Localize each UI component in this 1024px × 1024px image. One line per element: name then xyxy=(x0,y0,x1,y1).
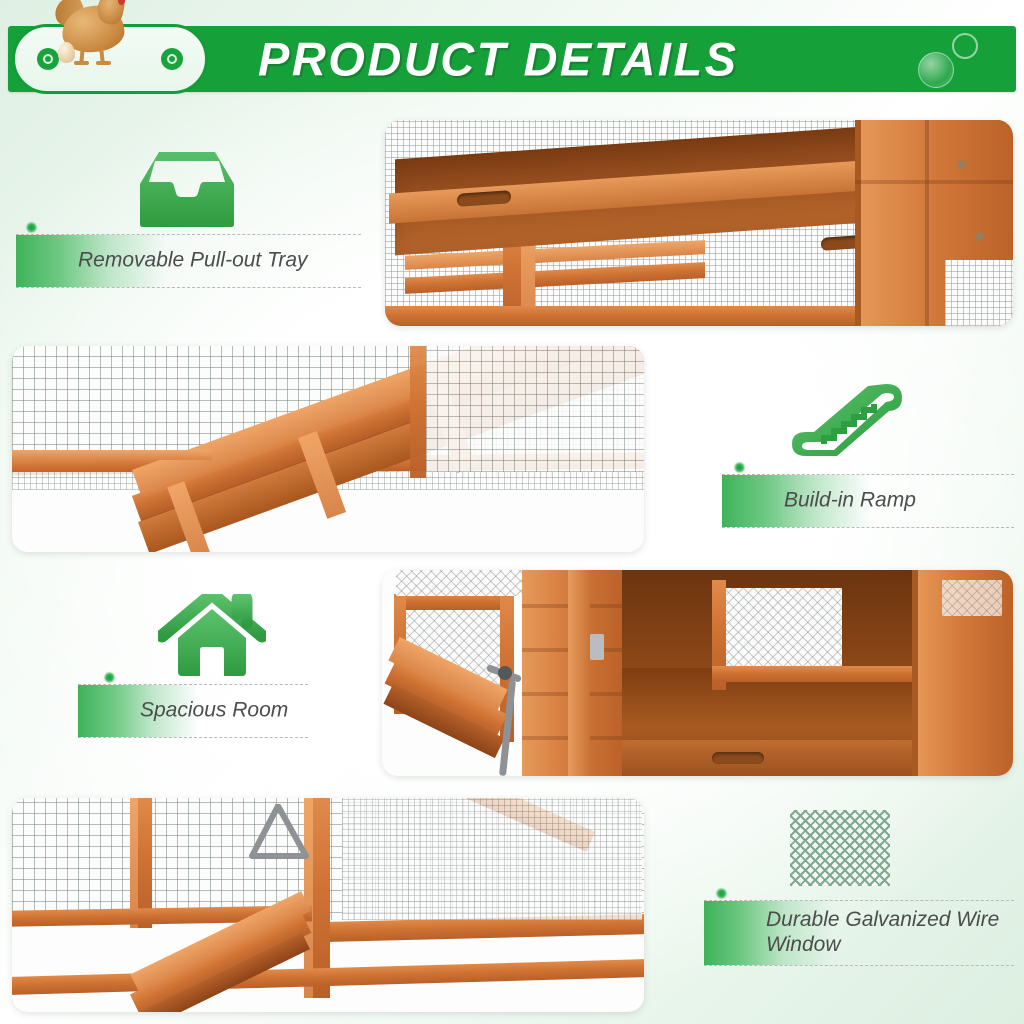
photo-galvanized-wire-window xyxy=(12,798,644,1012)
photo-build-in-ramp xyxy=(12,346,644,552)
feature-pull-out-tray: Removable Pull-out Tray xyxy=(0,140,370,310)
escalator-ramp-icon xyxy=(790,380,910,464)
feature-label: Durable Galvanized Wire Window xyxy=(766,908,1006,958)
feature-spacious-room: Spacious Room xyxy=(60,590,390,760)
accent-dot-icon xyxy=(104,672,115,683)
rivet-icon xyxy=(161,48,183,70)
accent-dot-icon xyxy=(716,888,727,899)
hen-with-egg-icon xyxy=(52,0,148,72)
feature-galvanized-wire-window: Durable Galvanized Wire Window xyxy=(660,800,1024,990)
accent-dot-icon xyxy=(734,462,745,473)
photo-spacious-room xyxy=(382,570,1013,776)
photo-pull-out-tray xyxy=(385,120,1013,326)
wire-mesh-swatch-icon xyxy=(790,810,890,886)
label-bar: Removable Pull-out Tray xyxy=(16,234,361,288)
bubble-large-icon xyxy=(918,52,954,88)
feature-label: Spacious Room xyxy=(140,699,288,724)
accent-dot-icon xyxy=(26,222,37,233)
house-icon xyxy=(158,594,266,680)
feature-label: Build-in Ramp xyxy=(784,489,916,514)
feature-label: Removable Pull-out Tray xyxy=(78,249,308,274)
label-bar: Build-in Ramp xyxy=(722,474,1014,528)
label-bar: Durable Galvanized Wire Window xyxy=(704,900,1014,966)
product-details-infographic: PRODUCT DETAILS xyxy=(0,0,1024,1024)
bubble-small-icon xyxy=(952,33,978,59)
label-bar: Spacious Room xyxy=(78,684,308,738)
page-title: PRODUCT DETAILS xyxy=(258,32,739,87)
tray-icon xyxy=(137,148,237,230)
feature-build-in-ramp: Build-in Ramp xyxy=(660,380,1024,550)
